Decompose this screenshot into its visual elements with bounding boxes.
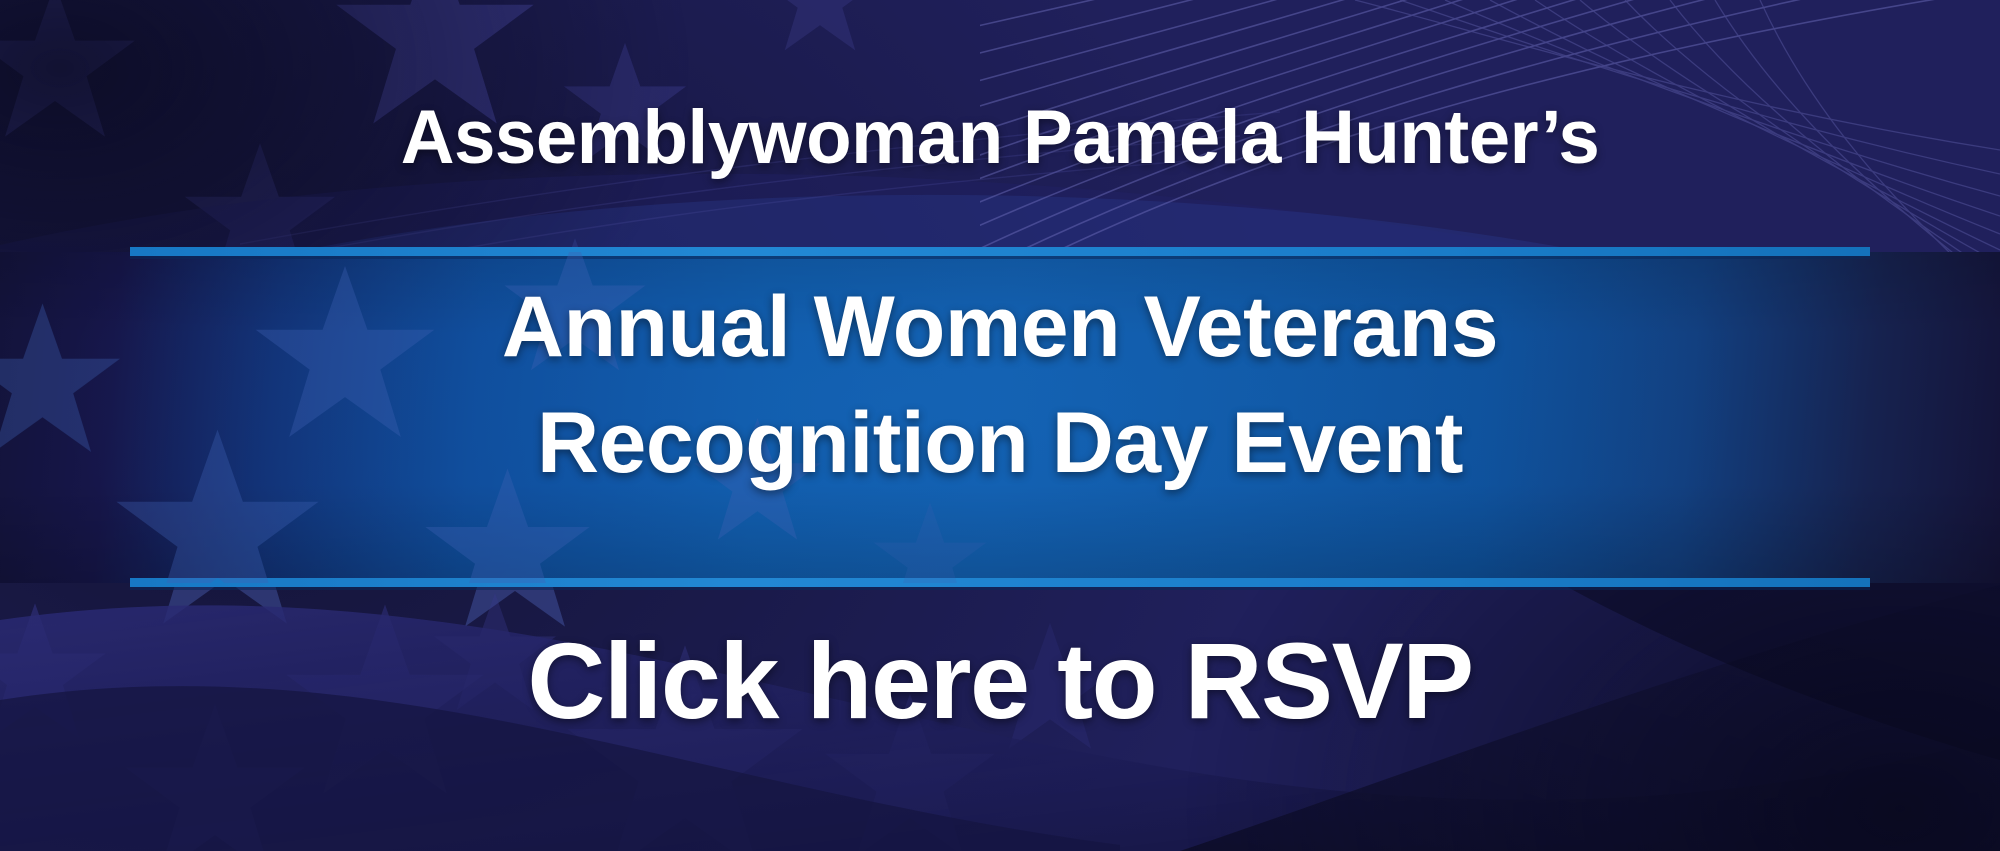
rsvp-call-to-action[interactable]: Click here to RSVP xyxy=(0,627,2000,735)
banner-headline-mid-line1: Annual Women Veterans xyxy=(0,284,2000,370)
rsvp-event-banner[interactable]: Assemblywoman Pamela Hunter’s Annual Wom… xyxy=(0,0,2000,851)
banner-headline-top: Assemblywoman Pamela Hunter’s xyxy=(20,100,1980,176)
banner-text-group: Assemblywoman Pamela Hunter’s Annual Wom… xyxy=(0,0,2000,851)
banner-headline-mid-line2: Recognition Day Event xyxy=(0,400,2000,486)
